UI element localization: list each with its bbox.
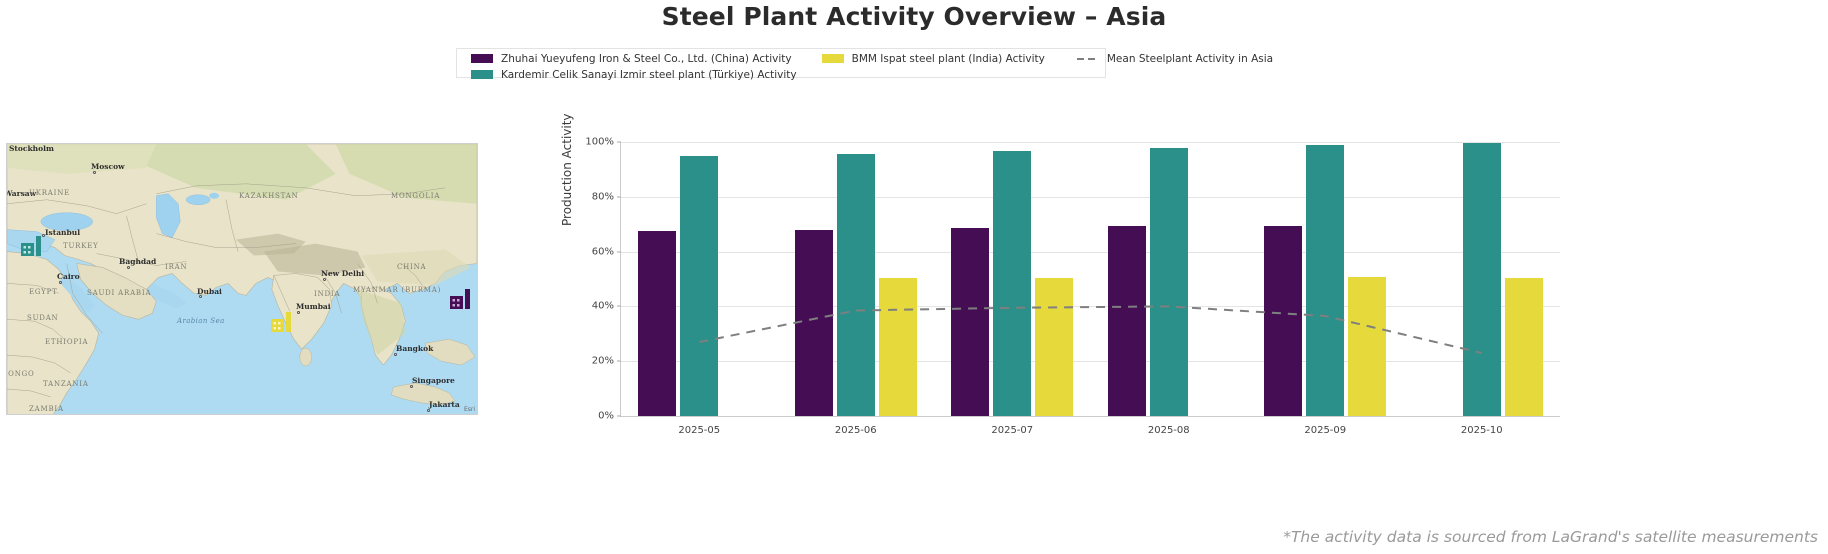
- x-tick-label: 2025-08: [1148, 425, 1190, 436]
- map-city-dot: [394, 353, 397, 356]
- legend-entry-bmm-ispat[interactable]: BMM Ispat steel plant (India) Activity: [822, 52, 1045, 65]
- x-tick-label: 2025-06: [835, 425, 877, 436]
- factory-icon: [21, 236, 47, 256]
- x-tick-label: 2025-05: [678, 425, 720, 436]
- legend-swatch-kardemir: [471, 70, 493, 79]
- y-axis-title: Production Activity: [560, 113, 574, 226]
- map-city-dot: [127, 266, 130, 269]
- legend-swatch-zhuhai: [471, 54, 493, 63]
- chart-plot-area: 0%20%40%60%80%100%2025-052025-062025-072…: [620, 142, 1560, 417]
- map-city-dot: [93, 171, 96, 174]
- activity-bar-chart: Production Activity 0%20%40%60%80%100%20…: [566, 130, 1571, 450]
- asia-map[interactable]: Stockholm Moscow Warsaw Istanbul Baghdad…: [6, 143, 478, 415]
- legend-entry-mean-activity[interactable]: Mean Steelplant Activity in Asia: [1077, 52, 1273, 65]
- map-city-dot: [323, 278, 326, 281]
- y-tick-label: 80%: [592, 191, 614, 202]
- x-tick-label: 2025-07: [991, 425, 1033, 436]
- map-city-dot: [410, 385, 413, 388]
- map-attribution: Esri: [464, 406, 475, 413]
- factory-icon: [271, 312, 297, 332]
- y-tick-label: 20%: [592, 356, 614, 367]
- map-city-dot: [297, 311, 300, 314]
- legend-entry-zhuhai[interactable]: Zhuhai Yueyufeng Iron & Steel Co., Ltd. …: [471, 52, 792, 65]
- chart-legend: Zhuhai Yueyufeng Iron & Steel Co., Ltd. …: [456, 48, 1106, 78]
- mean-activity-line: [621, 142, 1560, 416]
- legend-swatch-bmm-ispat: [822, 54, 844, 63]
- y-tick-label: 40%: [592, 301, 614, 312]
- y-tick-label: 0%: [598, 411, 614, 422]
- legend-label-zhuhai: Zhuhai Yueyufeng Iron & Steel Co., Ltd. …: [501, 53, 792, 65]
- legend-label-kardemir: Kardemir Celik Sanayi Izmir steel plant …: [501, 69, 797, 81]
- x-tick-label: 2025-10: [1461, 425, 1503, 436]
- map-marker-zhuhai[interactable]: [450, 289, 476, 313]
- map-city-dot: [59, 281, 62, 284]
- map-city-dot: [427, 409, 430, 412]
- legend-row-2: Kardemir Celik Sanayi Izmir steel plant …: [463, 68, 1099, 81]
- x-tick-label: 2025-09: [1304, 425, 1346, 436]
- legend-entry-kardemir[interactable]: Kardemir Celik Sanayi Izmir steel plant …: [471, 68, 797, 81]
- y-tick-label: 100%: [585, 137, 614, 148]
- page-title: Steel Plant Activity Overview – Asia: [0, 2, 1828, 31]
- map-marker-bmm-ispat[interactable]: [271, 312, 297, 336]
- legend-dashed-line-icon: [1077, 54, 1099, 63]
- map-marker-kardemir[interactable]: [21, 236, 47, 260]
- map-city-dot: [199, 295, 202, 298]
- legend-label-mean-activity: Mean Steelplant Activity in Asia: [1107, 53, 1273, 65]
- footnote: *The activity data is sourced from LaGra…: [1283, 528, 1818, 546]
- y-tick-label: 60%: [592, 246, 614, 257]
- legend-label-bmm-ispat: BMM Ispat steel plant (India) Activity: [852, 53, 1045, 65]
- map-basemap: [7, 144, 477, 415]
- mean-activity-path: [699, 306, 1482, 353]
- legend-row-1: Zhuhai Yueyufeng Iron & Steel Co., Ltd. …: [463, 52, 1099, 65]
- factory-icon: [450, 289, 476, 309]
